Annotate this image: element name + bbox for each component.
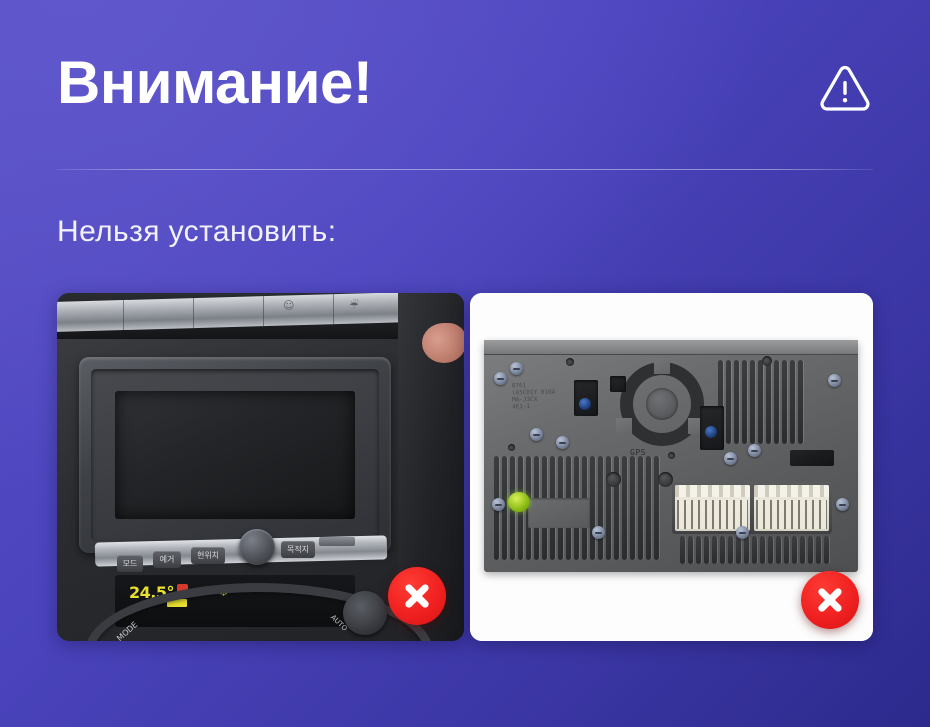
mount-hole	[668, 452, 675, 459]
fan-cutout	[620, 362, 704, 446]
head-unit-screen	[115, 391, 355, 519]
connector-left	[675, 485, 750, 531]
screen-bezel-inner	[91, 369, 379, 541]
connector-right	[754, 485, 829, 531]
screw	[736, 526, 749, 539]
gps-jack-icon	[705, 426, 717, 438]
screw	[494, 372, 507, 385]
screw	[592, 526, 605, 539]
mount-hole	[508, 444, 515, 451]
mount-hole	[566, 358, 574, 366]
screw	[828, 374, 841, 387]
rear-pad	[790, 450, 834, 466]
screw	[724, 452, 737, 465]
defrost-icon: ☺	[283, 299, 294, 312]
button-destination-kr[interactable]: 목적지	[281, 541, 315, 558]
mount-hole	[762, 356, 772, 366]
screw	[748, 444, 761, 457]
gps-label: GPS	[630, 448, 646, 457]
sd-card-slot	[319, 537, 355, 546]
green-marker-dot	[508, 492, 530, 512]
chassis-top-rail	[484, 340, 858, 355]
small-port	[610, 376, 626, 392]
screen-bezel	[79, 357, 391, 553]
photo-card-head-unit: 0761(A5CD1Y 010AMA-J3CX4E1-1 GPS	[470, 293, 873, 641]
mount-hole	[606, 472, 621, 487]
volume-knob[interactable]	[239, 529, 275, 565]
button-mode-kr[interactable]: 모드	[117, 555, 143, 572]
chassis-plate	[528, 498, 590, 528]
iso-connector-block	[672, 482, 832, 534]
header-divider	[57, 169, 873, 170]
warning-slide: Внимание! Нельзя установить: ☺ ☔ ⚠	[0, 0, 930, 727]
head-unit-chassis: 0761(A5CD1Y 010AMA-J3CX4E1-1 GPS	[484, 340, 858, 572]
screw	[510, 362, 523, 375]
screw	[836, 498, 849, 511]
photo-card-list: ☺ ☔ ⚠ 모드 예거 현위치 목적지 2	[57, 293, 873, 641]
button-yegeo-kr[interactable]: 예거	[153, 551, 181, 568]
mount-hole	[658, 472, 673, 487]
molded-part-number: 0761(A5CD1Y 010AMA-J3CX4E1-1	[512, 382, 556, 411]
warning-triangle-icon	[817, 60, 873, 116]
hand-in-frame	[422, 323, 464, 363]
climate-control-pad[interactable]	[343, 591, 387, 635]
photo-card-dashboard: ☺ ☔ ⚠ 모드 예거 현위치 목적지 2	[57, 293, 464, 641]
wiper-icon: ☔	[349, 299, 359, 312]
antenna-jack-icon	[579, 398, 591, 410]
screw	[492, 498, 505, 511]
button-current-location-kr[interactable]: 현위치	[191, 547, 225, 564]
heatsink-fins-bottom-right	[680, 536, 829, 564]
header: Внимание!	[57, 52, 873, 132]
subtitle: Нельзя установить:	[57, 212, 336, 252]
heatsink-fins-top-right	[718, 360, 803, 444]
screw	[530, 428, 543, 441]
page-title: Внимание!	[57, 52, 372, 114]
red-cross-icon	[388, 567, 446, 625]
red-cross-icon	[801, 571, 859, 629]
screw	[556, 436, 569, 449]
